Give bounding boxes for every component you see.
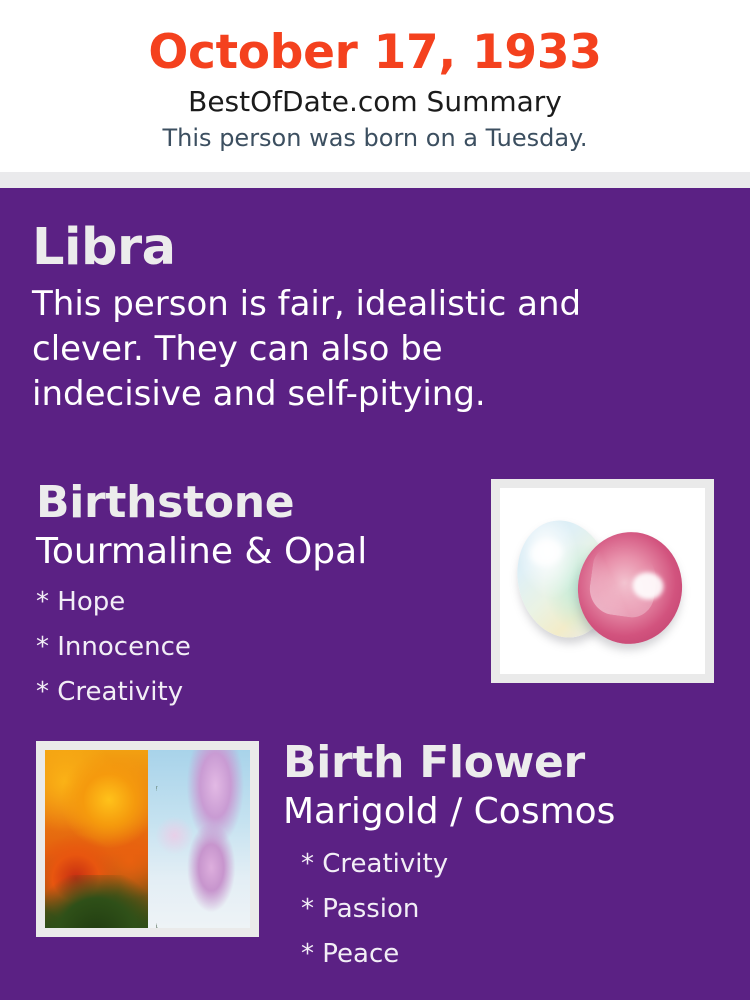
header: October 17, 1933 BestOfDate.com Summary … (0, 0, 750, 172)
zodiac-section: Libra This person is fair, idealistic an… (32, 218, 632, 417)
list-item: * Hope (36, 580, 476, 625)
born-day-text: This person was born on a Tuesday. (0, 120, 750, 154)
birth-flower-image (36, 741, 259, 937)
list-item: * Creativity (301, 842, 723, 887)
site-summary-label: BestOfDate.com Summary (0, 82, 750, 120)
birthstone-names: Tourmaline & Opal (36, 530, 476, 574)
cosmos-photo-icon (148, 750, 251, 928)
birthstone-image (491, 479, 714, 683)
birth-flower-names: Marigold / Cosmos (283, 790, 723, 834)
birth-flower-trait-list: * Creativity * Passion * Peace (283, 834, 723, 977)
header-divider (0, 172, 750, 188)
summary-card: October 17, 1933 BestOfDate.com Summary … (0, 0, 750, 1000)
birth-flower-title: Birth Flower (283, 736, 723, 790)
list-item: * Peace (301, 932, 723, 977)
zodiac-sign-name: Libra (32, 218, 632, 278)
birthstone-image-inner (500, 488, 705, 674)
page-title: October 17, 1933 (0, 0, 750, 82)
list-item: * Passion (301, 887, 723, 932)
birth-flower-image-inner (45, 750, 250, 928)
list-item: * Innocence (36, 625, 476, 670)
marigold-photo-icon (45, 750, 148, 928)
birthstone-section: Birthstone Tourmaline & Opal * Hope * In… (36, 476, 476, 715)
birthstone-trait-list: * Hope * Innocence * Creativity (36, 574, 476, 715)
zodiac-description: This person is fair, idealistic and clev… (32, 278, 612, 417)
birth-flower-section: Birth Flower Marigold / Cosmos * Creativ… (283, 736, 723, 977)
content-panel: Libra This person is fair, idealistic an… (0, 188, 750, 1000)
list-item: * Creativity (36, 670, 476, 715)
birthstone-title: Birthstone (36, 476, 476, 530)
